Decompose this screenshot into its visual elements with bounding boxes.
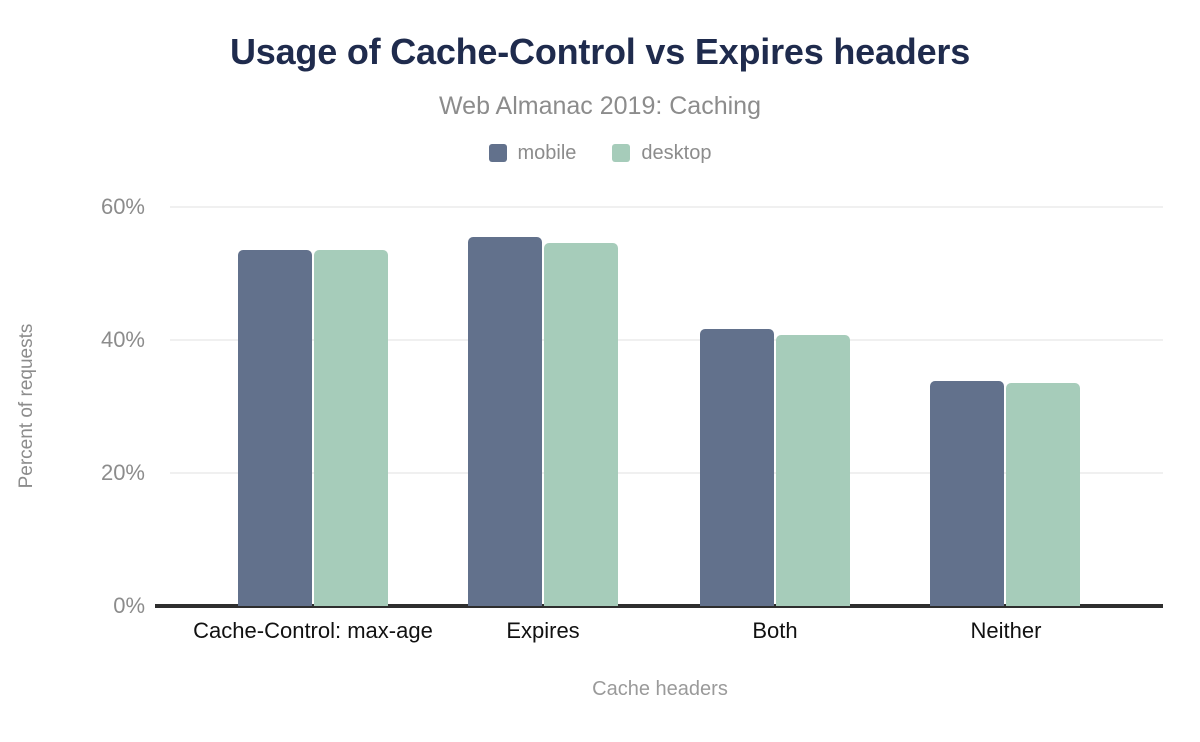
legend-label-mobile: mobile <box>518 143 577 163</box>
y-tick-60: 60% <box>55 196 145 218</box>
x-tick-expires: Expires <box>506 618 579 644</box>
legend-item-desktop[interactable]: desktop <box>612 143 711 163</box>
bar-mobile-neither[interactable] <box>930 381 1004 606</box>
legend-item-mobile[interactable]: mobile <box>489 143 577 163</box>
x-axis-label: Cache headers <box>0 678 1200 701</box>
bar-mobile-both[interactable] <box>700 329 774 606</box>
y-tick-40: 40% <box>55 329 145 351</box>
x-tick-cache-control-max-age: Cache-Control: max-age <box>193 618 433 644</box>
legend-swatch-mobile <box>489 144 507 162</box>
bar-desktop-neither[interactable] <box>1006 383 1080 606</box>
bar-desktop-both[interactable] <box>776 335 850 606</box>
bar-desktop-expires[interactable] <box>544 243 618 606</box>
gridline-60 <box>170 206 1163 208</box>
y-tick-20: 20% <box>55 462 145 484</box>
bar-chart: Usage of Cache-Control vs Expires header… <box>0 0 1200 742</box>
bar-desktop-cache-control-max-age[interactable] <box>314 250 388 606</box>
legend-swatch-desktop <box>612 144 630 162</box>
x-tick-both: Both <box>752 618 797 644</box>
y-axis-label: Percent of requests <box>16 276 38 536</box>
chart-legend: mobile desktop <box>0 143 1200 163</box>
y-tick-0: 0% <box>55 595 145 617</box>
plot-area <box>155 195 1163 610</box>
chart-subtitle: Web Almanac 2019: Caching <box>0 90 1200 122</box>
bar-mobile-cache-control-max-age[interactable] <box>238 250 312 606</box>
chart-title: Usage of Cache-Control vs Expires header… <box>0 30 1200 74</box>
y-axis-ticks: 60% 40% 20% 0% <box>45 195 145 610</box>
bar-mobile-expires[interactable] <box>468 237 542 606</box>
x-tick-neither: Neither <box>971 618 1042 644</box>
legend-label-desktop: desktop <box>641 143 711 163</box>
